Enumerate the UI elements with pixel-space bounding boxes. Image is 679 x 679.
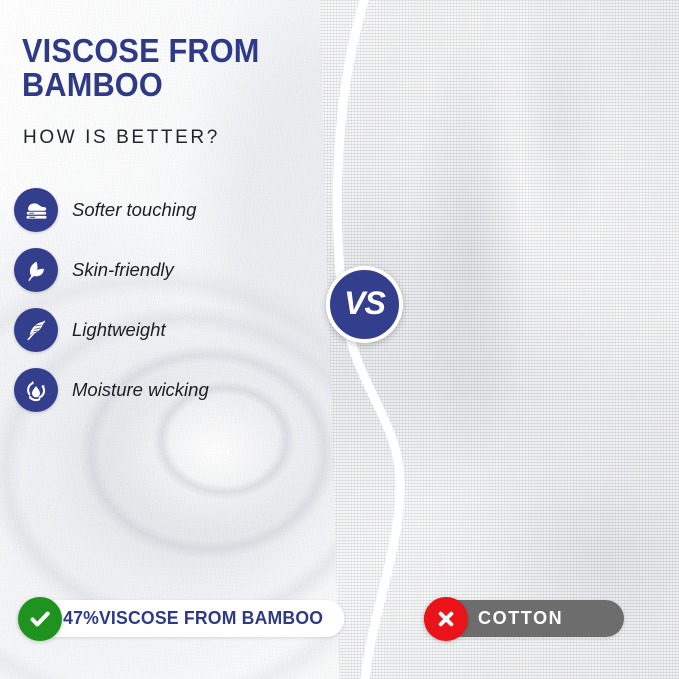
bamboo-banner-label: 47%VISCOSE FROM BAMBOO [18, 600, 345, 637]
feature-item-softer-touching: Softer touching [14, 184, 209, 236]
leaf-icon [14, 248, 58, 292]
page-title: VISCOSE FROM BAMBOO [22, 34, 301, 102]
cross-icon [424, 597, 468, 641]
cotton-result-banner: COTTON [424, 600, 624, 637]
headline-line-1: VISCOSE FROM [22, 34, 301, 68]
folded-towel-icon [14, 188, 58, 232]
feature-label: Softer touching [72, 199, 196, 221]
bamboo-result-banner: 47%VISCOSE FROM BAMBOO [18, 600, 351, 637]
feature-list: Softer touching Skin-friendly Lightw [14, 184, 209, 424]
feature-item-skin-friendly: Skin-friendly [14, 244, 209, 296]
water-droplet-recycle-icon [14, 368, 58, 412]
feature-label: Moisture wicking [72, 379, 209, 401]
subtitle: HOW IS BETTER? [23, 127, 220, 149]
comparison-infographic: VISCOSE FROM BAMBOO HOW IS BETTER? Softe… [0, 0, 679, 679]
feature-label: Lightweight [72, 319, 166, 341]
feature-label: Skin-friendly [72, 259, 174, 281]
check-icon [18, 597, 62, 641]
headline-line-2: BAMBOO [22, 68, 301, 102]
vs-badge: VS [326, 266, 403, 343]
feature-item-moisture-wicking: Moisture wicking [14, 364, 209, 416]
feather-icon [14, 308, 58, 352]
vs-label: VS [344, 285, 385, 322]
feature-item-lightweight: Lightweight [14, 304, 209, 356]
